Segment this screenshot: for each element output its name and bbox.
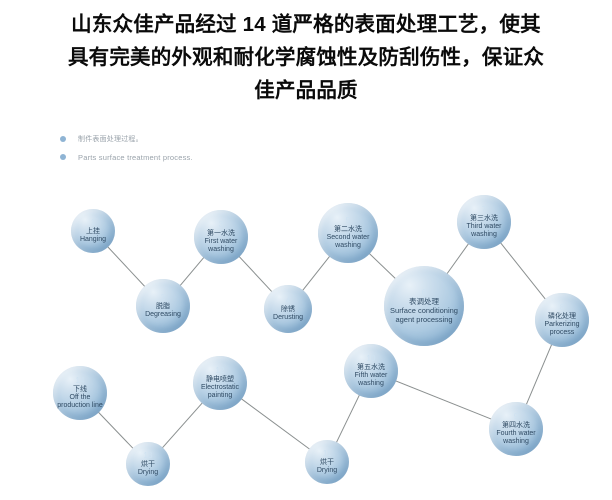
process-node-label-cn: 烘干 — [320, 458, 334, 467]
process-node-label-en: First water washing — [194, 238, 248, 255]
process-node-8[interactable]: 8磷化处理Parkerizing process — [535, 293, 589, 347]
legend-item-label: Parts surface treatment process. — [78, 153, 193, 162]
process-node-label-en: Hanging — [77, 236, 109, 245]
process-node-number: 3 — [219, 220, 223, 229]
legend-item: Parts surface treatment process. — [60, 149, 193, 165]
page-title: 山东众佳产品经过 14 道严格的表面处理工艺，使其 具有完美的外观和耐化学腐蚀性… — [0, 0, 612, 107]
process-node-label-cn: 第二水洗 — [334, 225, 362, 234]
process-node-4[interactable]: 4除锈Derusting — [264, 285, 312, 333]
process-node-label-cn: 第四水洗 — [502, 421, 530, 430]
process-node-10[interactable]: 10第五水洗Fifth water washing — [344, 344, 398, 398]
process-node-label-en: Derusting — [270, 314, 306, 323]
process-node-2[interactable]: 2脱脂Degreasing — [136, 279, 190, 333]
process-node-label-en: Off the production line — [53, 394, 107, 411]
process-node-7[interactable]: 7第三水洗Third water washing — [457, 195, 511, 249]
process-node-label-en: Third water washing — [457, 223, 511, 240]
process-node-number: 9 — [514, 412, 518, 421]
process-node-label-cn: 烘干 — [141, 460, 155, 469]
process-node-number: 8 — [560, 303, 564, 312]
process-node-3[interactable]: 3第一水洗First water washing — [194, 210, 248, 264]
process-node-label-en: Fourth water washing — [489, 430, 543, 447]
process-node-label-en: Drying — [135, 469, 161, 478]
title-line-2: 具有完美的外观和耐化学腐蚀性及防刮伤性，保证众 — [14, 41, 598, 74]
process-node-11[interactable]: 11烘干Drying — [305, 440, 349, 484]
process-node-label-cn: 磷化处理 — [548, 312, 576, 321]
process-node-number: 12 — [216, 366, 225, 375]
process-node-number: 11 — [323, 449, 331, 458]
legend-item: 制件表面处理过程。 — [60, 131, 193, 147]
process-node-13[interactable]: 13烘干Drying — [126, 442, 170, 486]
process-node-label-en: Fifth water washing — [344, 372, 398, 389]
process-node-number: 7 — [482, 205, 486, 214]
process-node-number: 10 — [367, 354, 376, 363]
process-node-number: 2 — [161, 293, 165, 302]
process-node-label-cn: 上挂 — [86, 227, 100, 236]
process-node-label-cn: 脱脂 — [156, 302, 170, 311]
process-node-number: 4 — [286, 296, 290, 305]
title-line-3: 佳产品品质 — [14, 74, 598, 107]
process-node-number: 5 — [346, 216, 350, 225]
process-node-14[interactable]: 14下线Off the production line — [53, 366, 107, 420]
legend-item-label: 制件表面处理过程。 — [78, 134, 143, 144]
process-node-label-cn: 表调处理 — [409, 297, 439, 306]
process-node-label-en: Degreasing — [142, 311, 184, 320]
process-node-label-en: Electrostatic painting — [193, 384, 247, 401]
process-node-label-cn: 第五水洗 — [357, 363, 385, 372]
process-node-number: 13 — [144, 451, 153, 460]
node-layer: 1上挂Hanging2脱脂Degreasing3第一水洗First water … — [0, 175, 612, 500]
process-node-label-cn: 下线 — [73, 385, 87, 394]
process-node-label-en: Surface conditioning agent processing — [384, 306, 464, 325]
process-node-label-cn: 静电喷塑 — [206, 375, 234, 384]
title-line-1: 山东众佳产品经过 14 道严格的表面处理工艺，使其 — [14, 8, 598, 41]
process-node-6[interactable]: 6表调处理Surface conditioning agent processi… — [384, 266, 464, 346]
process-node-number: 1 — [91, 218, 95, 227]
process-node-label-en: Second water washing — [318, 234, 378, 251]
process-node-1[interactable]: 1上挂Hanging — [71, 209, 115, 253]
process-flow-diagram: 1上挂Hanging2脱脂Degreasing3第一水洗First water … — [0, 175, 612, 500]
bullet-dot-icon — [60, 154, 66, 160]
process-node-label-en: Drying — [314, 467, 340, 476]
process-node-9[interactable]: 9第四水洗Fourth water washing — [489, 402, 543, 456]
process-node-label-en: Parkerizing process — [535, 321, 589, 338]
legend: 制件表面处理过程。 Parts surface treatment proces… — [60, 131, 193, 167]
process-node-5[interactable]: 5第二水洗Second water washing — [318, 203, 378, 263]
process-node-label-cn: 第三水洗 — [470, 214, 498, 223]
process-node-12[interactable]: 12静电喷塑Electrostatic painting — [193, 356, 247, 410]
process-node-label-cn: 第一水洗 — [207, 229, 235, 238]
process-node-label-cn: 除锈 — [281, 305, 295, 314]
process-node-number: 6 — [422, 288, 427, 297]
process-node-number: 14 — [76, 376, 85, 385]
bullet-dot-icon — [60, 136, 66, 142]
